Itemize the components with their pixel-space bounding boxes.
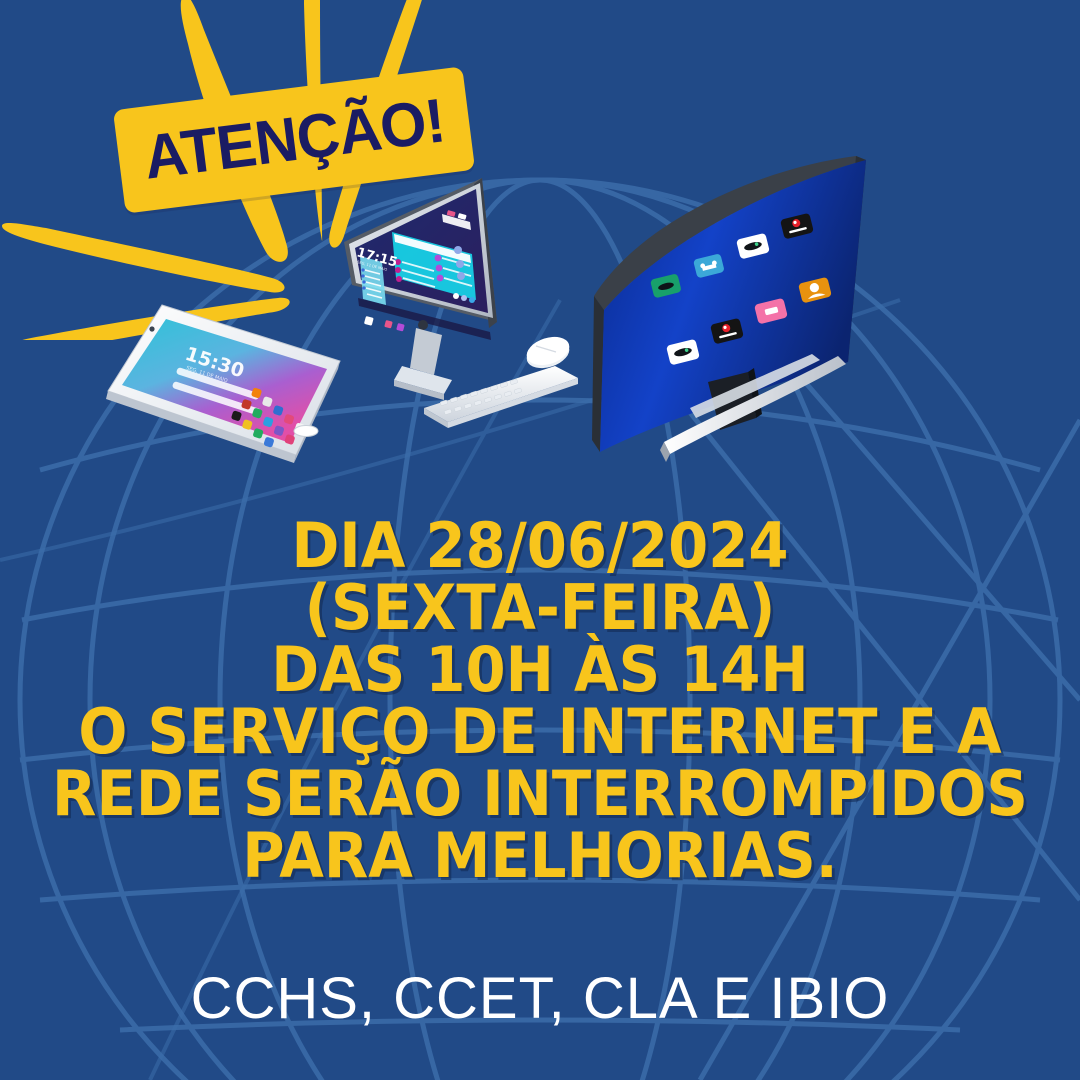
tablet-illustration: 15:30 SEG, 11 DE MAIO	[100, 295, 350, 470]
footer-units-label: CCHS, CCET, CLA E IBIO	[0, 965, 1080, 1032]
headline-line-2: (SEXTA-FEIRA)	[38, 577, 1042, 639]
headline-line-4: O SERVIÇO DE INTERNET E A	[38, 701, 1042, 763]
poster-canvas: ATENÇÃO! 15:30 SEG, 11 DE MAIO	[0, 0, 1080, 1080]
headline-block: DIA 28/06/2024 (SEXTA-FEIRA) DAS 10H ÀS …	[0, 515, 1080, 887]
headline-line-5: REDE SERÃO INTERROMPIDOS	[38, 763, 1042, 825]
headline-line-6: PARA MELHORIAS.	[38, 825, 1042, 887]
headline-line-3: DAS 10H ÀS 14H	[38, 639, 1042, 701]
desktop-computer-illustration: 17:15 SEG, 11 DE MAIO	[330, 170, 590, 460]
curved-smart-tv-illustration	[580, 150, 900, 480]
headline-line-1: DIA 28/06/2024	[38, 515, 1042, 577]
